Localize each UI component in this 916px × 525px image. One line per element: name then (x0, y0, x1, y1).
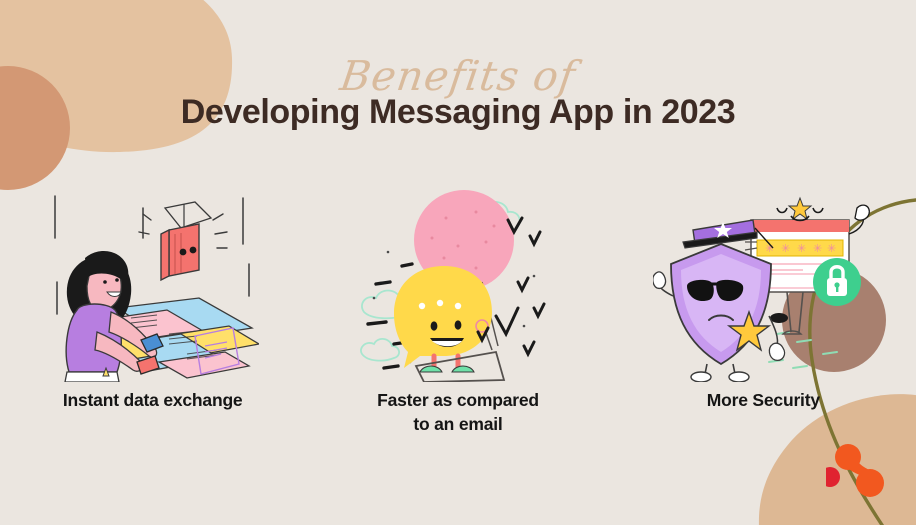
poster-canvas: Benefits of Developing Messaging App in … (0, 0, 916, 525)
svg-text:✳: ✳ (827, 243, 836, 255)
benefits-row: Instant data exchange (0, 186, 916, 456)
window-face (777, 198, 823, 221)
lock-badge (813, 258, 861, 306)
logo-dot-small (826, 467, 840, 487)
benefit-caption: Instant data exchange (63, 388, 243, 412)
shield-feet (691, 372, 749, 382)
svg-text:✳: ✳ (781, 243, 790, 255)
page-title: Developing Messaging App in 2023 (0, 93, 916, 132)
svg-text:✳: ✳ (813, 243, 822, 255)
shield-icon (671, 244, 771, 364)
benefit-caption: More Security (707, 388, 820, 412)
mouse-shape (770, 313, 788, 323)
benefit-item-instant-data-exchange: Instant data exchange (0, 186, 305, 456)
benefit-item-more-security: ✳ ✳ ✳ ✳ ✳ (611, 186, 916, 456)
envelope-icon (161, 202, 211, 280)
star-icon (789, 198, 811, 219)
thumbs-up-icon (855, 205, 869, 220)
caption-line-2: to an email (413, 414, 502, 434)
illustration-shield-guard: ✳ ✳ ✳ ✳ ✳ (611, 186, 916, 382)
shield-legs (705, 364, 735, 374)
chat-bubble-character (394, 266, 492, 368)
brand-logo (826, 443, 890, 499)
benefit-item-faster-than-email: Faster as compared to an email (305, 186, 610, 456)
benefit-caption: Faster as compared to an email (377, 388, 539, 436)
illustration-woman-at-desk (0, 186, 305, 382)
window-leg (787, 292, 803, 332)
illustration-balloon-chat (305, 186, 610, 382)
svg-text:✳: ✳ (797, 243, 806, 255)
caption-line-1: Faster as compared (377, 390, 539, 410)
window-foot (783, 331, 801, 334)
